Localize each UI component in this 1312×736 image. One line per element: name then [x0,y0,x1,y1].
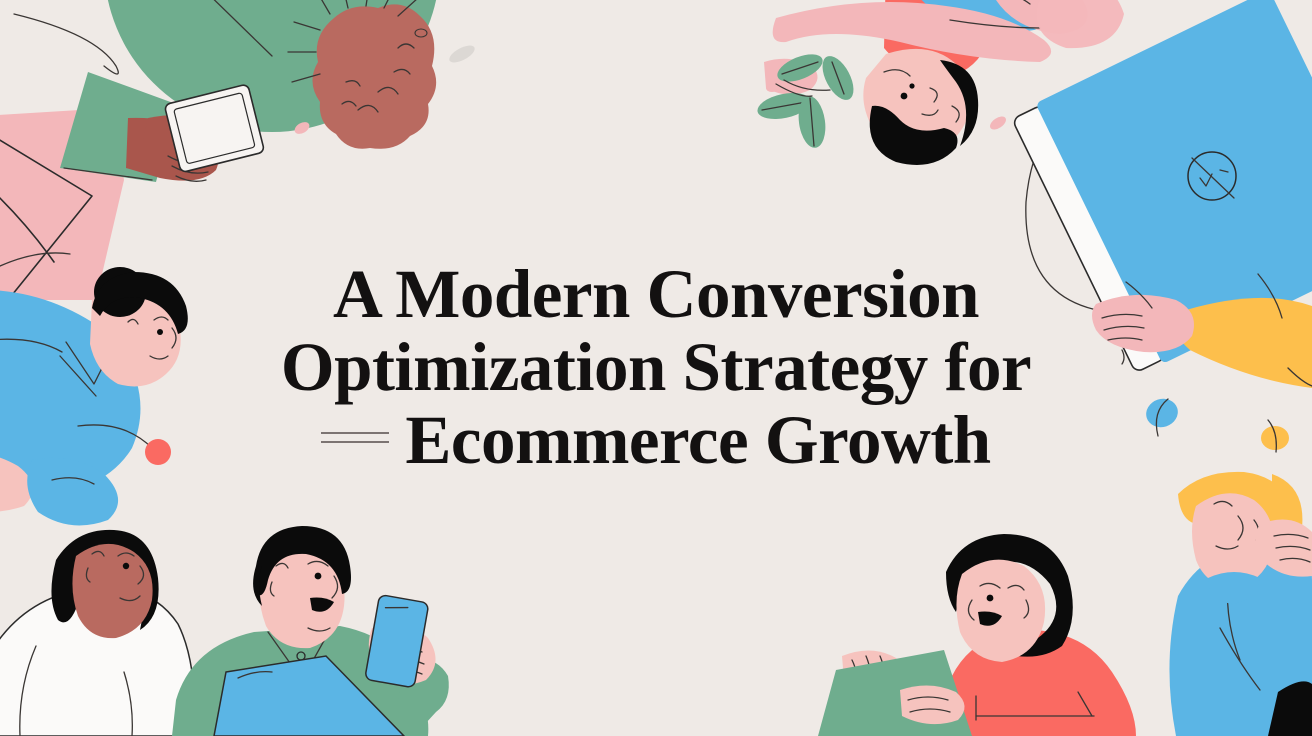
hero-banner: .ol { fill:none; stroke:#2B2B2B; stroke-… [0,0,1312,736]
decorative-illustration-layer: .ol { fill:none; stroke:#2B2B2B; stroke-… [0,0,1312,736]
